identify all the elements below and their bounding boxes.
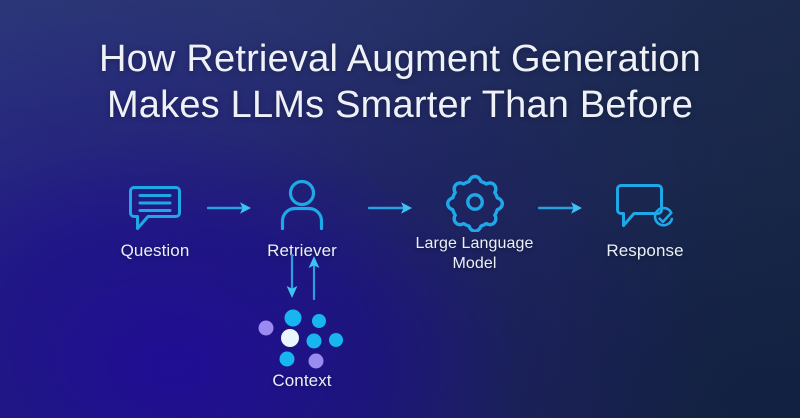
person-icon: [242, 178, 362, 234]
llm-label-line-2: Model: [452, 255, 496, 272]
diagram-node-label-large-language-model: Large Language Model: [412, 234, 537, 274]
diagram-node-label-context: Context: [242, 370, 362, 391]
page-title: How Retrieval Augment Generation Makes L…: [0, 36, 800, 128]
page-title-line-1: How Retrieval Augment Generation: [0, 36, 800, 82]
llm-label-line-1: Large Language: [416, 235, 534, 252]
context-dot-7: [309, 354, 324, 369]
context-dot-5: [329, 333, 343, 347]
context-dot-3: [281, 329, 299, 347]
gear-icon: [412, 172, 537, 228]
arrow-down-icon-retriever-to-context: [285, 254, 299, 305]
diagram-node-label-retriever: Retriever: [242, 240, 362, 261]
context-dot-2: [312, 314, 326, 328]
arrow-up-icon-context-to-retriever: [307, 254, 321, 305]
diagram-node-response[interactable]: Response: [585, 178, 705, 261]
context-dot-6: [280, 352, 295, 367]
rag-flow-diagram: Question Retriever: [0, 160, 800, 418]
diagram-node-retriever[interactable]: Retriever: [242, 178, 362, 261]
context-dot-0: [259, 321, 274, 336]
diagram-node-large-language-model[interactable]: Large Language Model: [412, 172, 537, 274]
arrow-right-icon-llm-to-response: [538, 200, 584, 221]
speech-bubble-check-icon: [585, 178, 705, 234]
diagram-node-label-question: Question: [95, 240, 215, 261]
speech-bubble-lines-icon: [95, 178, 215, 234]
page-title-line-2: Makes LLMs Smarter Than Before: [0, 82, 800, 128]
diagram-node-label-response: Response: [585, 240, 705, 261]
arrow-right-icon-retriever-to-llm: [368, 200, 414, 221]
dot-cluster-icon: [242, 308, 362, 364]
slide-canvas: How Retrieval Augment Generation Makes L…: [0, 0, 800, 418]
diagram-node-context[interactable]: Context: [242, 308, 362, 391]
context-dot-4: [307, 334, 322, 349]
context-dot-1: [285, 310, 302, 327]
diagram-node-question[interactable]: Question: [95, 178, 215, 261]
